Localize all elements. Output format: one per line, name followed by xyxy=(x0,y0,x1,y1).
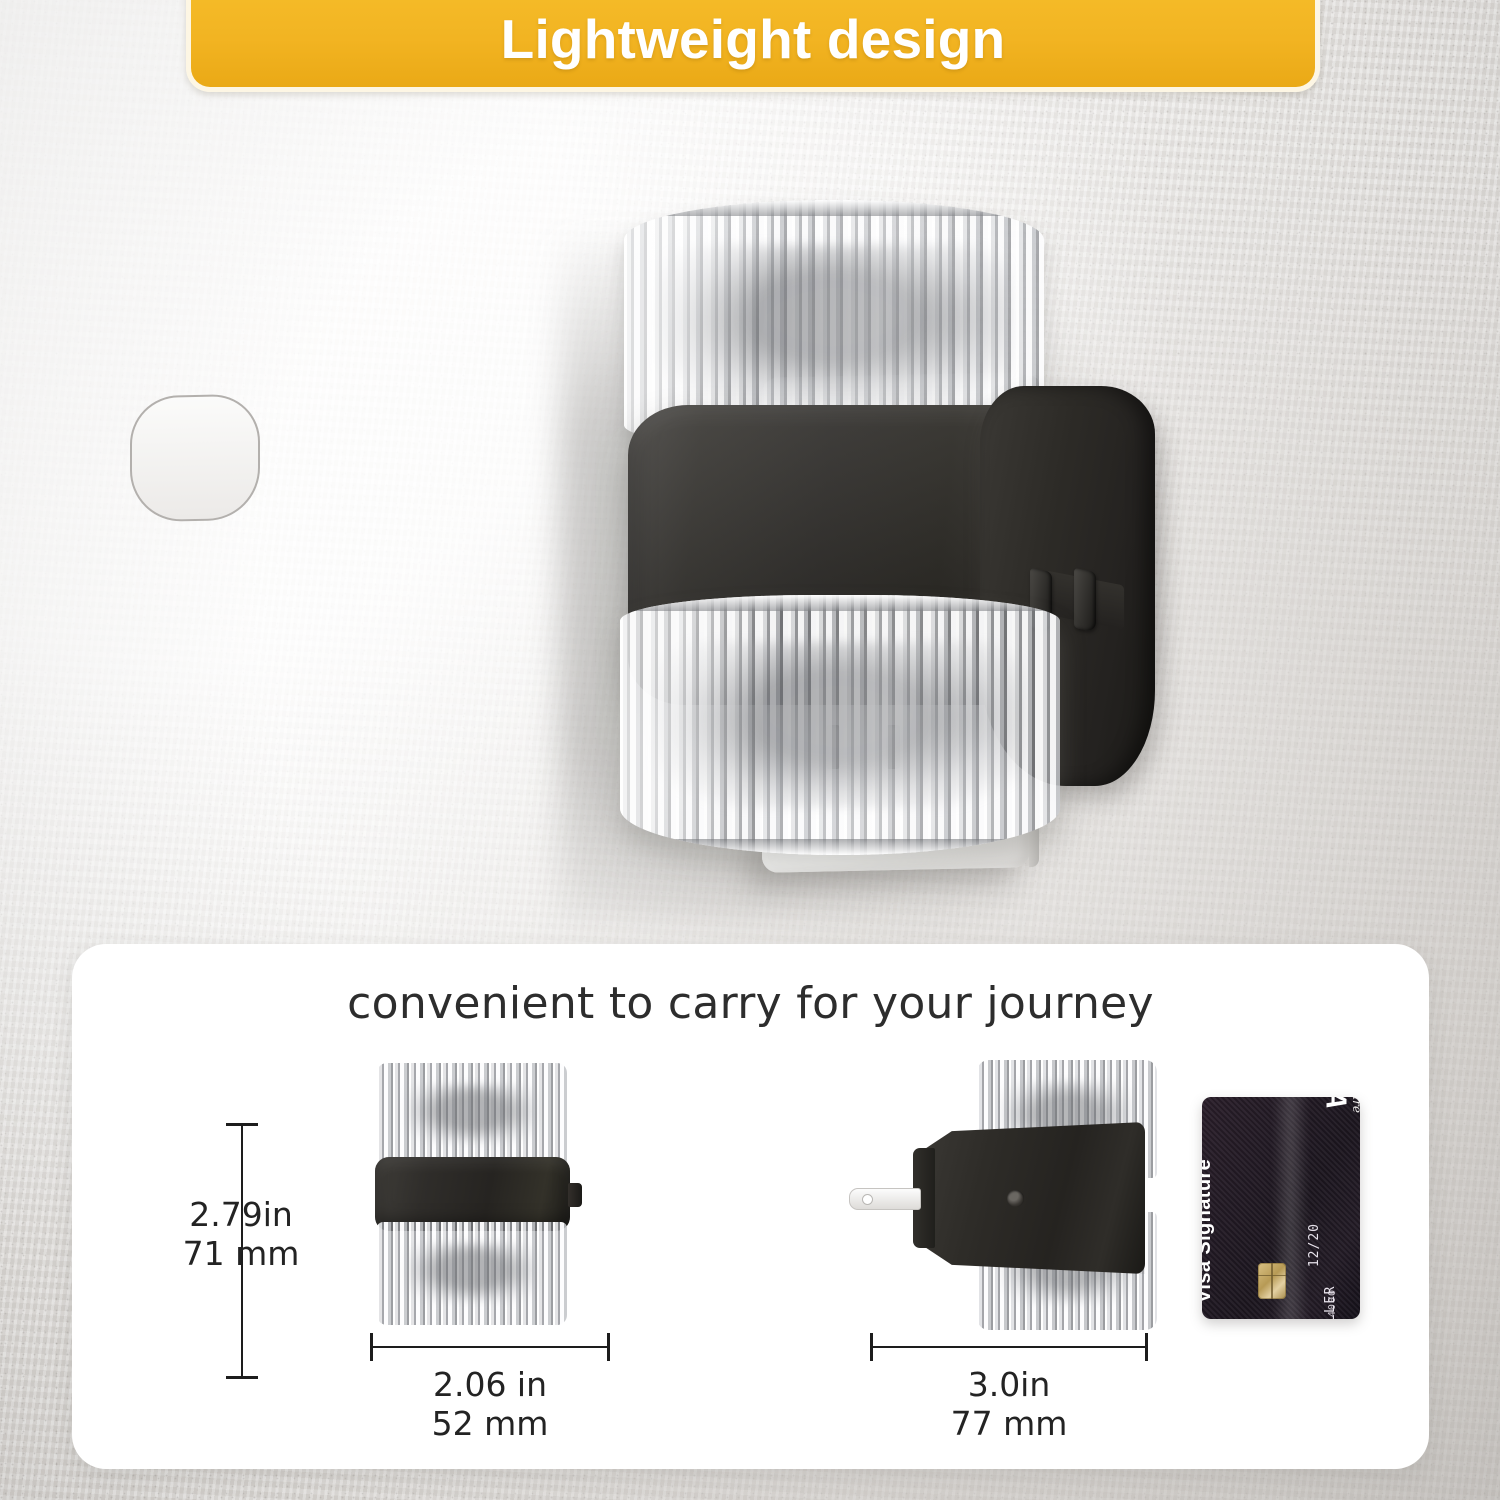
headline-banner: Lightweight design xyxy=(186,0,1320,92)
height-value-inches: 2.79in xyxy=(176,1196,306,1235)
hero-product-scene xyxy=(0,90,1500,970)
front-shade-top xyxy=(377,1063,567,1166)
width-left-inches: 2.06 in xyxy=(370,1366,610,1405)
crystal-shade-bottom xyxy=(620,595,1060,855)
outlet-receptacle xyxy=(130,394,260,523)
visa-logo: VISA xyxy=(1321,1097,1350,1109)
front-black-band xyxy=(375,1157,570,1231)
visa-logo-subtitle: Signature xyxy=(1350,1097,1360,1113)
front-led-glow-top xyxy=(407,1084,536,1144)
height-dimension-label: 2.79in 71 mm xyxy=(176,1196,306,1274)
width-left-mm: 52 mm xyxy=(370,1405,610,1444)
headline-text: Lightweight design xyxy=(501,12,1006,87)
card-expiry: 12/20 xyxy=(1307,1223,1322,1267)
credit-card-icon: VISA Signature Visa Signature 4000 12/20… xyxy=(1202,1097,1360,1319)
switch-tab-right xyxy=(1074,568,1096,632)
width-dimension-label-right: 3.0in 77 mm xyxy=(870,1366,1148,1444)
shade-rim-top xyxy=(620,595,1060,611)
light-sensor-icon xyxy=(1007,1190,1024,1207)
front-led-glow-bottom xyxy=(407,1243,536,1303)
card-title: convenient to carry for your journey xyxy=(72,978,1429,1029)
plug-prong-icon xyxy=(849,1188,921,1210)
front-switch-tab xyxy=(568,1183,582,1207)
shade-rim-bottom xyxy=(620,839,1060,855)
height-value-mm: 71 mm xyxy=(176,1235,306,1274)
width-dimension-line-left xyxy=(370,1346,610,1348)
nightlight-side-view-icon xyxy=(855,1060,1155,1330)
width-dimension-label-left: 2.06 in 52 mm xyxy=(370,1366,610,1444)
emv-chip-icon xyxy=(1258,1263,1286,1299)
card-holder-name: A. MILLER xyxy=(1323,1285,1338,1319)
visa-brand-text: Visa Signature xyxy=(1202,1159,1216,1303)
side-plug-body xyxy=(915,1122,1145,1274)
product-marketing-image: Lightweight design xyxy=(0,0,1500,1500)
nightlight-front-view-icon xyxy=(375,1063,570,1325)
width-right-mm: 77 mm xyxy=(870,1405,1148,1444)
front-shade-bottom xyxy=(377,1222,567,1325)
glass-gloss-highlight xyxy=(620,595,1060,855)
shade-rim-top xyxy=(624,200,1044,216)
width-right-inches: 3.0in xyxy=(870,1366,1148,1405)
width-dimension-line-right xyxy=(870,1346,1148,1348)
